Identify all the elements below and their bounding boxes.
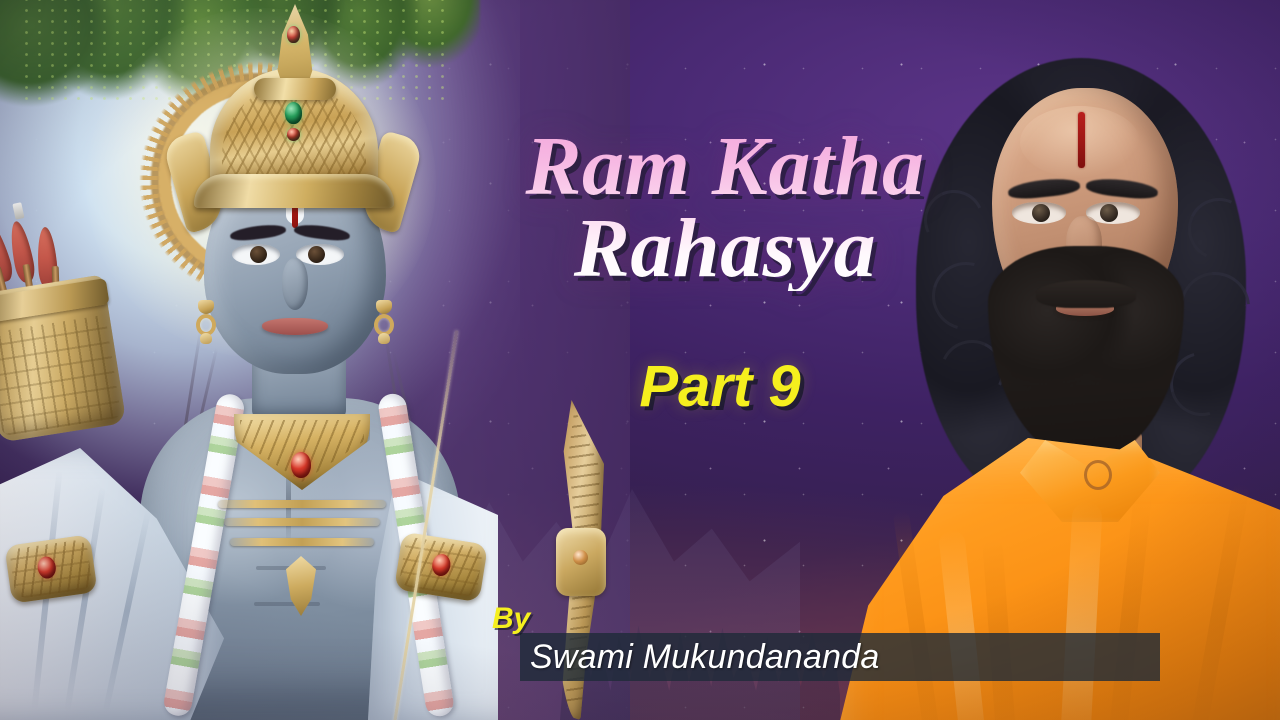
swami-mukundananda-figure	[870, 40, 1280, 720]
necklace-ruby	[291, 452, 311, 478]
mala-bead-icon	[1084, 460, 1112, 490]
presenter-name-band	[520, 633, 1160, 681]
swami-eye-left	[1012, 202, 1066, 224]
quiver-engraving	[0, 315, 121, 436]
iris	[308, 246, 325, 263]
golden-crown	[188, 6, 400, 226]
crown-brim	[194, 174, 394, 208]
earring-stud	[198, 300, 214, 314]
iris	[1100, 204, 1118, 222]
earring-right	[374, 300, 394, 344]
video-thumbnail: Ram Katha Rahasya Part 9 By Swami Mukund…	[0, 0, 1280, 720]
bow-grip-gem	[573, 550, 588, 565]
chain-link	[224, 518, 380, 526]
crown-spire-ring	[254, 78, 336, 100]
earring-drop	[200, 333, 212, 344]
crown-gem-emerald	[285, 102, 302, 124]
earring-drop	[378, 333, 390, 344]
crown-gem-ruby	[287, 128, 300, 141]
chain-link	[218, 500, 386, 508]
swami-mustache	[1036, 280, 1136, 308]
earring-left	[196, 300, 216, 344]
eye-left	[232, 244, 280, 265]
arrow-nock	[12, 202, 24, 220]
lips	[262, 318, 328, 335]
lord-ram-figure	[0, 0, 460, 720]
nose	[282, 258, 308, 310]
swami-tilak-icon	[1078, 112, 1085, 168]
earring-stud	[376, 300, 392, 314]
iris	[1032, 204, 1050, 222]
armband-left	[4, 534, 97, 603]
crown-gem-top	[287, 26, 300, 43]
chain-link	[230, 538, 374, 546]
iris	[250, 246, 267, 263]
